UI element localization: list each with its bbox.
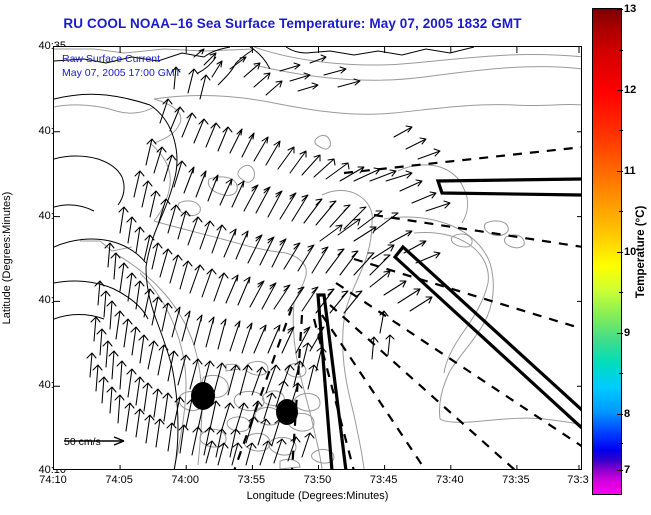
sst-map-figure: RU COOL NOAA–16 Sea Surface Temperature:… xyxy=(0,0,651,515)
x-tick-73-35: 73:35 xyxy=(502,474,530,486)
x-tick-73-45: 73:45 xyxy=(370,474,398,486)
x-tick-74-05: 74:05 xyxy=(105,474,133,486)
x-tick-73-40: 73:40 xyxy=(436,474,464,486)
station-marker-west xyxy=(191,382,215,410)
current-annotation: Raw Surface Current May 07, 2005 17:00 G… xyxy=(62,52,181,80)
y-axis-label: Latitude (Degrees:Minutes) xyxy=(1,192,13,325)
annotation-line-1: Raw Surface Current xyxy=(62,52,181,66)
map-canvas xyxy=(54,47,582,470)
y-axis-label-container: Latitude (Degrees:Minutes) xyxy=(0,46,16,470)
cb-tick-9: 9 xyxy=(624,327,630,339)
x-tick-73-30: 73:3 xyxy=(567,474,588,486)
station-marker-east xyxy=(276,399,298,425)
x-tick-73-50: 73:50 xyxy=(304,474,332,486)
cb-tick-8: 8 xyxy=(624,408,630,420)
x-axis-label: Longitude (Degrees:Minutes) xyxy=(53,490,582,502)
figure-title: RU COOL NOAA–16 Sea Surface Temperature:… xyxy=(0,16,585,31)
annotation-line-2: May 07, 2005 17:00 GMT xyxy=(62,66,181,80)
map-plot-area[interactable]: Raw Surface Current May 07, 2005 17:00 G… xyxy=(53,46,582,470)
radar-coverage-sectors xyxy=(318,179,582,470)
velocity-scale-label: 50 cm/s xyxy=(64,436,101,448)
x-tick-73-55: 73:55 xyxy=(238,474,266,486)
cb-tick-7: 7 xyxy=(624,464,630,476)
colorbar-label: Temperature (°C) xyxy=(635,205,647,298)
colorbar-label-container: Temperature (°C) xyxy=(632,8,650,495)
x-tick-74-10: 74:10 xyxy=(39,474,67,486)
coastline xyxy=(54,47,474,470)
x-tick-74-00: 74:00 xyxy=(171,474,199,486)
velocity-scale-legend: 50 cm/s xyxy=(64,436,101,451)
